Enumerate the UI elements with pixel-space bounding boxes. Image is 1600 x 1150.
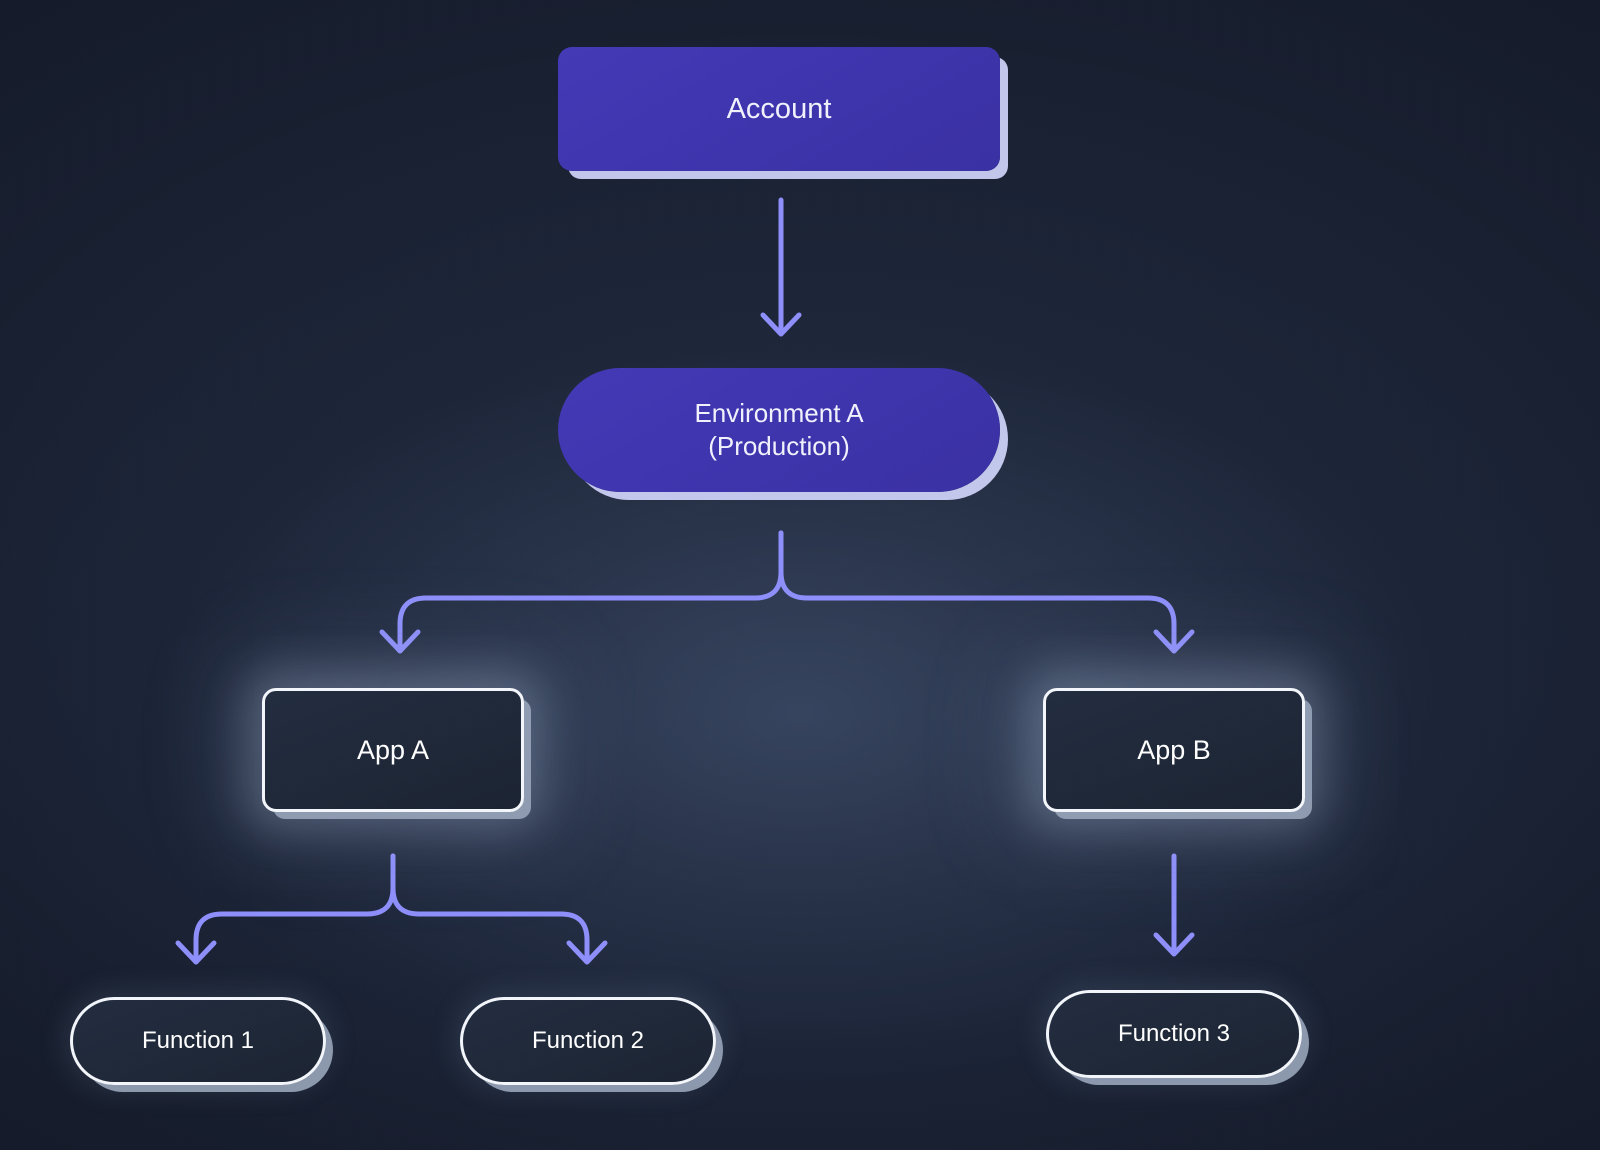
node-account[interactable]: Account <box>558 47 1000 171</box>
node-function-2[interactable]: Function 2 <box>460 997 716 1085</box>
node-function-2-label: Function 2 <box>518 1026 658 1056</box>
edge-environment-a-to-app-a <box>382 533 781 651</box>
node-app-a-label: App A <box>343 733 443 767</box>
edge-account-to-environment-a <box>763 200 799 334</box>
node-function-3-label: Function 3 <box>1104 1019 1244 1049</box>
node-app-b[interactable]: App B <box>1043 688 1305 812</box>
edge-app-b-to-function-3 <box>1156 856 1192 954</box>
diagram-canvas: Account Environment A (Production) App A… <box>0 0 1600 1150</box>
node-environment-a-label-line2: (Production) <box>694 430 863 463</box>
node-account-label: Account <box>713 91 846 128</box>
edge-environment-a-to-app-b <box>781 533 1192 651</box>
edge-app-a-to-function-1 <box>178 856 393 962</box>
node-environment-a-label-line1: Environment A <box>694 398 863 428</box>
node-app-a[interactable]: App A <box>262 688 524 812</box>
edge-app-a-to-function-2 <box>393 856 605 962</box>
node-environment-a[interactable]: Environment A (Production) <box>558 368 1000 492</box>
node-function-1-label: Function 1 <box>128 1026 268 1056</box>
connector-layer <box>0 0 1600 1150</box>
node-function-3[interactable]: Function 3 <box>1046 990 1302 1078</box>
node-function-1[interactable]: Function 1 <box>70 997 326 1085</box>
node-environment-a-label: Environment A (Production) <box>680 397 877 463</box>
node-app-b-label: App B <box>1123 733 1225 767</box>
